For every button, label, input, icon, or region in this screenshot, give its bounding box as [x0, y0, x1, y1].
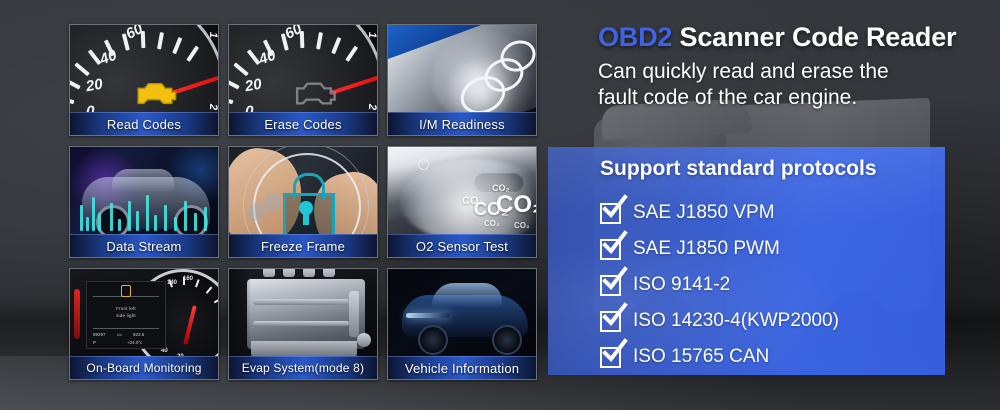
title-rest: Scanner Code Reader: [680, 22, 957, 52]
page-title: OBD2 Scanner Code Reader: [598, 22, 998, 53]
speedo-number: 20: [244, 76, 263, 96]
check-engine-light-icon: [132, 79, 178, 109]
gauge-number: 160: [183, 276, 193, 282]
check-engine-light-off-icon: [291, 79, 337, 109]
feature-tile-on-board-monitoring[interactable]: 160 140 120 100 80 70 60 40 20: [69, 268, 219, 380]
speedo-edge-number: 1: [366, 32, 377, 39]
subtitle-line-2: fault code of the car engine.: [598, 85, 998, 111]
subtitle-line-1: Can quickly read and erase the: [598, 59, 998, 85]
protocol-item[interactable]: ISO 14230-4(KWP2000): [600, 303, 839, 339]
feature-tile-label: O2 Sensor Test: [388, 234, 536, 257]
cluster-status-line-2: side light: [87, 313, 165, 318]
protocol-label: ISO 9141-2: [633, 274, 730, 296]
feature-tile-label: Read Codes: [70, 112, 218, 135]
feature-tile-label: Data Stream: [70, 234, 218, 257]
feature-tile-label: Erase Codes: [229, 112, 377, 135]
speedo-edge-number: 1: [207, 32, 218, 39]
co2-label: CO₂: [484, 219, 500, 228]
protocols-title: Support standard protocols: [600, 157, 877, 181]
feature-tile-o2-sensor-test[interactable]: CO₂ CO₂ CO₂ CO₂ CO₂ CO₂ O2 Sensor Test: [387, 146, 537, 258]
cluster-status-line-1: Front left: [87, 306, 165, 311]
protocol-item[interactable]: SAE J1850 VPM: [600, 195, 839, 231]
co2-label: CO₂: [496, 191, 536, 219]
feature-tile-label: I/M Readiness: [388, 112, 536, 135]
protocol-label: ISO 14230-4(KWP2000): [633, 310, 839, 332]
feature-tile-freeze-frame[interactable]: Freeze Frame: [228, 146, 378, 258]
cluster-temperature: +24.0°c: [127, 340, 142, 345]
speedo-edge-number: 2: [366, 104, 377, 111]
protocol-label: SAE J1850 PWM: [633, 238, 780, 260]
protocol-item[interactable]: ISO 15765 CAN: [600, 339, 839, 375]
cluster-trip: 923.5: [133, 332, 144, 337]
feature-tile-label: Evap System(mode 8): [229, 356, 377, 379]
checkbox-checked-icon[interactable]: [600, 203, 621, 224]
feature-tile-data-stream[interactable]: Data Stream: [69, 146, 219, 258]
brand-name: OBD2: [598, 22, 672, 52]
cluster-odometer-unit: km: [117, 332, 122, 337]
checkbox-checked-icon[interactable]: [600, 275, 621, 296]
checkbox-checked-icon[interactable]: [600, 239, 621, 260]
cluster-odometer: 89297: [93, 332, 106, 337]
checkbox-checked-icon[interactable]: [600, 347, 621, 368]
co2-label: CO₂: [514, 221, 530, 230]
checkbox-checked-icon[interactable]: [600, 311, 621, 332]
protocol-label: ISO 15765 CAN: [633, 346, 769, 368]
feature-tile-label: On-Board Monitoring: [70, 356, 218, 379]
feature-tile-label: Vehicle Information: [388, 356, 536, 379]
gauge-number: 140: [167, 280, 177, 286]
headline-subtitle: Can quickly read and erase the fault cod…: [598, 59, 998, 110]
speedo-edge-number: 2: [207, 104, 218, 111]
protocol-item[interactable]: ISO 9141-2: [600, 267, 839, 303]
protocols-panel: Support standard protocols SAE J1850 VPM…: [548, 147, 945, 375]
cluster-gear: P: [93, 340, 96, 345]
protocol-item[interactable]: SAE J1850 PWM: [600, 231, 839, 267]
feature-grid: 60 40 20 0 1 2 Read Codes: [69, 24, 537, 380]
feature-tile-erase-codes[interactable]: 60 40 20 0 1 2 Erase Codes: [228, 24, 378, 136]
feature-tile-vehicle-information[interactable]: Vehicle Information: [387, 268, 537, 380]
headline-block: OBD2 Scanner Code Reader Can quickly rea…: [598, 22, 998, 110]
feature-tile-read-codes[interactable]: 60 40 20 0 1 2 Read Codes: [69, 24, 219, 136]
feature-tile-evap-system[interactable]: Evap System(mode 8): [228, 268, 378, 380]
feature-tile-im-readiness[interactable]: I/M Readiness: [387, 24, 537, 136]
protocol-label: SAE J1850 VPM: [633, 202, 775, 224]
promo-banner: 60 40 20 0 1 2 Read Codes: [0, 0, 1000, 410]
speedo-number: 20: [85, 76, 104, 96]
protocols-list: SAE J1850 VPM SAE J1850 PWM ISO 9141-2 I…: [600, 195, 839, 375]
feature-tile-label: Freeze Frame: [229, 234, 377, 257]
